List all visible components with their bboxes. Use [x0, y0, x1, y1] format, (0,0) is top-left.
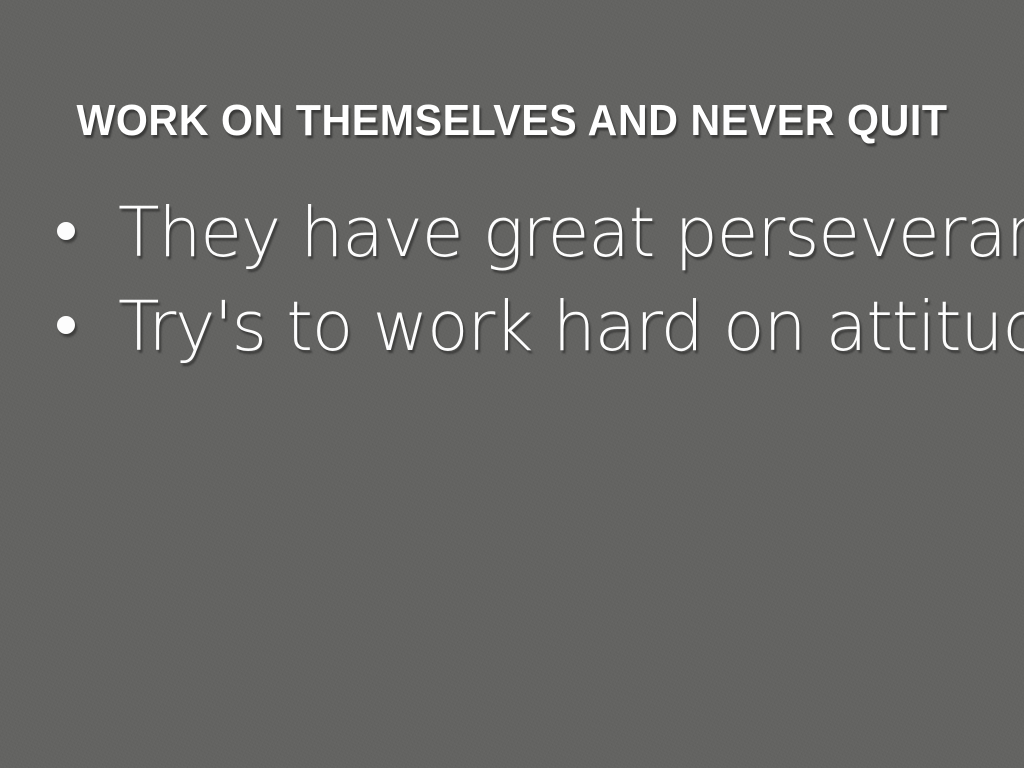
- bullet-text: Try's to work hard on attitude: [118, 284, 975, 370]
- bullet-text: They have great perseverance: [118, 190, 975, 276]
- presentation-slide: WORK ON THEMSELVES AND NEVER QUIT They h…: [0, 0, 1024, 768]
- list-item: Try's to work hard on attitude: [48, 284, 988, 378]
- bullet-list: They have great perseverance Try's to wo…: [48, 190, 988, 378]
- round-bullet-icon: [57, 222, 75, 240]
- list-item: They have great perseverance: [48, 190, 988, 284]
- slide-title: WORK ON THEMSELVES AND NEVER QUIT: [33, 98, 990, 144]
- round-bullet-icon: [57, 316, 75, 334]
